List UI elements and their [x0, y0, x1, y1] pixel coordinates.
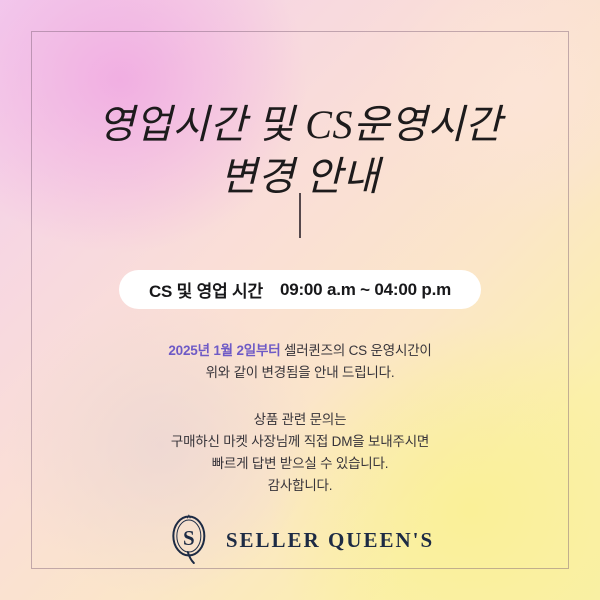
notice-paragraph-secondary: 상품 관련 문의는 구매하신 마켓 사장님께 직접 DM을 보내주시면 빠르게 … [0, 409, 600, 497]
notice-paragraph-primary: 2025년 1월 2일부터 셀러퀸즈의 CS 운영시간이 위와 같이 변경됨을 … [0, 340, 600, 384]
notice-paragraph-secondary-line-3: 빠르게 답변 받으실 수 있습니다. [0, 453, 600, 475]
notice-paragraph-primary-line-1: 2025년 1월 2일부터 셀러퀸즈의 CS 운영시간이 [0, 340, 600, 362]
business-hours-notice-card: 영업시간 및 CS운영시간 변경 안내 CS 및 영업 시간 09:00 a.m… [0, 0, 600, 600]
hours-badge-value: 09:00 a.m ~ 04:00 p.m [280, 280, 451, 300]
notice-paragraph-primary-line-2: 위와 같이 변경됨을 안내 드립니다. [0, 362, 600, 384]
brand-lockup: S SELLER QUEEN'S [166, 512, 434, 568]
title-divider-rule [299, 193, 301, 238]
notice-paragraph-secondary-line-2: 구매하신 마켓 사장님께 직접 DM을 보내주시면 [0, 431, 600, 453]
page-title-line-1: 영업시간 및 CS운영시간 [0, 99, 600, 151]
effective-date-sentence-rest: 셀러퀸즈의 CS 운영시간이 [280, 343, 431, 358]
seller-queens-monogram-icon: S [166, 514, 212, 566]
notice-content: 영업시간 및 CS운영시간 변경 안내 CS 및 영업 시간 09:00 a.m… [0, 0, 600, 600]
notice-paragraph-secondary-line-1: 상품 관련 문의는 [0, 409, 600, 431]
status-badge: CS 및 영업 시간 09:00 a.m ~ 04:00 p.m [119, 270, 481, 309]
notice-paragraph-secondary-line-4: 감사합니다. [0, 475, 600, 497]
svg-text:S: S [183, 526, 195, 550]
hours-badge-label: CS 및 영업 시간 [149, 277, 263, 302]
effective-date-highlight: 2025년 1월 2일부터 [168, 343, 280, 358]
brand-wordmark: SELLER QUEEN'S [226, 528, 434, 553]
page-title: 영업시간 및 CS운영시간 변경 안내 [0, 99, 600, 203]
